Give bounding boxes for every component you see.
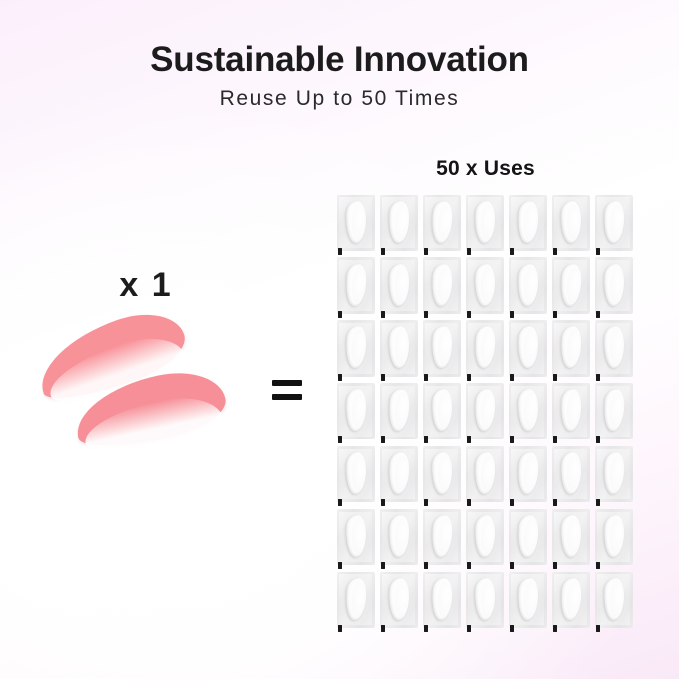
sachet-pouch: [552, 320, 590, 376]
sachet-pouch: [466, 320, 504, 376]
white-eye-patch: [515, 451, 539, 495]
sachet-cell: [507, 319, 550, 382]
tear-notch-icon: [467, 436, 471, 443]
white-eye-patch: [602, 451, 625, 494]
tear-notch-icon: [338, 436, 342, 443]
sachet-cell: [464, 319, 507, 382]
multiplier-label: x 1: [76, 266, 216, 305]
white-eye-patch: [430, 326, 453, 369]
white-eye-patch: [431, 452, 452, 494]
tear-notch-icon: [381, 311, 385, 318]
white-eye-patch: [559, 389, 582, 432]
tear-notch-icon: [596, 436, 600, 443]
sachet-pouch: [595, 446, 633, 502]
sachet-cell: [335, 319, 378, 382]
sachet-cell: [550, 382, 593, 445]
sachet-cell: [378, 319, 421, 382]
white-eye-patch: [472, 325, 496, 369]
sachet-pouch: [595, 195, 633, 251]
white-eye-patch: [387, 451, 410, 494]
sachet-cell: [378, 570, 421, 633]
tear-notch-icon: [338, 374, 342, 381]
tear-notch-icon: [424, 436, 428, 443]
sachet-cell: [593, 319, 636, 382]
sachet-pouch: [466, 446, 504, 502]
disposable-sachet-grid: [335, 193, 636, 633]
tear-notch-icon: [553, 374, 557, 381]
white-eye-patch: [345, 200, 366, 242]
tear-notch-icon: [467, 562, 471, 569]
sachet-cell: [421, 382, 464, 445]
tear-notch-icon: [424, 562, 428, 569]
white-eye-patch: [517, 326, 539, 369]
tear-notch-icon: [553, 499, 557, 506]
tear-notch-icon: [596, 311, 600, 318]
sachet-cell: [378, 256, 421, 319]
tear-notch-icon: [424, 311, 428, 318]
sachet-cell: [378, 193, 421, 256]
white-eye-patch: [516, 263, 539, 306]
sachet-pouch: [595, 383, 633, 439]
sachet-pouch: [466, 509, 504, 565]
sachet-pouch: [380, 257, 418, 313]
tear-notch-icon: [596, 562, 600, 569]
sachet-pouch: [509, 572, 547, 628]
sachet-cell: [550, 570, 593, 633]
sachet-cell: [550, 319, 593, 382]
sachet-pouch: [423, 320, 461, 376]
sachet-cell: [335, 570, 378, 633]
reusable-patch-pair: [30, 318, 245, 478]
sachet-pouch: [337, 257, 375, 313]
tear-notch-icon: [553, 625, 557, 632]
sachet-cell: [507, 570, 550, 633]
tear-notch-icon: [338, 499, 342, 506]
white-eye-patch: [558, 263, 582, 307]
equals-bar-lower: [272, 394, 302, 400]
white-eye-patch: [473, 388, 496, 431]
sachet-pouch: [337, 383, 375, 439]
white-eye-patch: [602, 200, 625, 243]
white-eye-patch: [602, 514, 625, 557]
tear-notch-icon: [510, 625, 514, 632]
sachet-cell: [464, 570, 507, 633]
white-eye-patch: [386, 388, 410, 432]
white-eye-patch: [344, 326, 367, 369]
sachet-pouch: [509, 257, 547, 313]
white-eye-patch: [343, 577, 367, 621]
tear-notch-icon: [381, 248, 385, 255]
tear-notch-icon: [381, 374, 385, 381]
sachet-cell: [421, 507, 464, 570]
tear-notch-icon: [424, 374, 428, 381]
sachet-pouch: [337, 320, 375, 376]
white-eye-patch: [388, 577, 410, 620]
tear-notch-icon: [467, 311, 471, 318]
sachet-pouch: [552, 195, 590, 251]
sachet-cell: [507, 444, 550, 507]
white-eye-patch: [516, 514, 539, 557]
sachet-cell: [593, 193, 636, 256]
white-eye-patch: [388, 326, 409, 368]
sachet-cell: [593, 382, 636, 445]
sachet-cell: [464, 193, 507, 256]
sachet-pouch: [423, 195, 461, 251]
white-eye-patch: [429, 514, 453, 558]
sachet-pouch: [337, 446, 375, 502]
page-subtitle: Reuse Up to 50 Times: [0, 87, 679, 111]
tear-notch-icon: [467, 499, 471, 506]
sachet-cell: [464, 507, 507, 570]
equals-sign: [272, 378, 306, 404]
sachet-pouch: [337, 195, 375, 251]
sachet-pouch: [423, 257, 461, 313]
white-eye-patch: [559, 326, 582, 369]
white-eye-patch: [345, 515, 366, 557]
tear-notch-icon: [553, 311, 557, 318]
grid-label-uses: 50 x Uses: [335, 157, 636, 181]
sachet-cell: [507, 193, 550, 256]
white-eye-patch: [474, 200, 496, 243]
sachet-cell: [378, 444, 421, 507]
sachet-cell: [550, 193, 593, 256]
tear-notch-icon: [381, 625, 385, 632]
tear-notch-icon: [596, 499, 600, 506]
sachet-pouch: [380, 509, 418, 565]
white-eye-patch: [431, 389, 453, 432]
tear-notch-icon: [467, 374, 471, 381]
sachet-cell: [335, 256, 378, 319]
sachet-cell: [421, 256, 464, 319]
sachet-pouch: [380, 383, 418, 439]
sachet-cell: [421, 444, 464, 507]
white-eye-patch: [560, 200, 581, 242]
sachet-pouch: [509, 446, 547, 502]
sachet-cell: [593, 570, 636, 633]
white-eye-patch: [474, 263, 495, 305]
white-eye-patch: [517, 389, 538, 431]
sachet-pouch: [466, 195, 504, 251]
sachet-cell: [593, 444, 636, 507]
sachet-pouch: [595, 509, 633, 565]
sachet-pouch: [423, 446, 461, 502]
sachet-cell: [550, 507, 593, 570]
white-eye-patch: [560, 515, 581, 557]
white-eye-patch: [473, 451, 496, 494]
sachet-pouch: [423, 509, 461, 565]
sachet-pouch: [466, 572, 504, 628]
sachet-pouch: [552, 572, 590, 628]
sachet-cell: [378, 507, 421, 570]
tear-notch-icon: [338, 248, 342, 255]
white-eye-patch: [343, 263, 367, 307]
white-eye-patch: [388, 263, 410, 306]
white-eye-patch: [430, 577, 453, 620]
product-infographic: Sustainable Innovation Reuse Up to 50 Ti…: [0, 0, 679, 679]
sachet-pouch: [509, 383, 547, 439]
tear-notch-icon: [338, 562, 342, 569]
sachet-pouch: [337, 572, 375, 628]
sachet-pouch: [552, 509, 590, 565]
tear-notch-icon: [510, 248, 514, 255]
sachet-pouch: [509, 509, 547, 565]
sachet-pouch: [423, 383, 461, 439]
white-eye-patch: [560, 452, 582, 495]
tear-notch-icon: [510, 311, 514, 318]
sachet-pouch: [595, 320, 633, 376]
tear-notch-icon: [424, 248, 428, 255]
tear-notch-icon: [553, 562, 557, 569]
white-eye-patch: [558, 577, 582, 621]
sachet-pouch: [509, 195, 547, 251]
white-eye-patch: [430, 263, 453, 306]
sachet-pouch: [509, 320, 547, 376]
sachet-cell: [507, 256, 550, 319]
sachet-cell: [335, 193, 378, 256]
tear-notch-icon: [424, 499, 428, 506]
sachet-cell: [421, 570, 464, 633]
sachet-cell: [421, 193, 464, 256]
white-eye-patch: [603, 326, 624, 368]
sachet-cell: [335, 507, 378, 570]
sachet-pouch: [466, 257, 504, 313]
tear-notch-icon: [510, 499, 514, 506]
tear-notch-icon: [381, 562, 385, 569]
sachet-pouch: [380, 446, 418, 502]
white-eye-patch: [601, 388, 625, 432]
sachet-cell: [550, 256, 593, 319]
tear-notch-icon: [510, 436, 514, 443]
white-eye-patch: [516, 200, 539, 243]
sachet-pouch: [423, 572, 461, 628]
tear-notch-icon: [553, 248, 557, 255]
tear-notch-icon: [510, 562, 514, 569]
sachet-pouch: [380, 195, 418, 251]
sachet-cell: [464, 382, 507, 445]
sachet-cell: [507, 507, 550, 570]
tear-notch-icon: [338, 311, 342, 318]
tear-notch-icon: [596, 625, 600, 632]
sachet-pouch: [595, 257, 633, 313]
page-title: Sustainable Innovation: [0, 40, 679, 80]
white-eye-patch: [603, 263, 625, 306]
sachet-pouch: [380, 572, 418, 628]
white-eye-patch: [345, 452, 367, 495]
tear-notch-icon: [553, 436, 557, 443]
tear-notch-icon: [596, 374, 600, 381]
sachet-pouch: [552, 446, 590, 502]
white-eye-patch: [387, 200, 410, 243]
sachet-cell: [378, 382, 421, 445]
sachet-cell: [335, 382, 378, 445]
tear-notch-icon: [338, 625, 342, 632]
white-eye-patch: [516, 577, 539, 620]
sachet-cell: [593, 256, 636, 319]
tear-notch-icon: [596, 248, 600, 255]
sachet-pouch: [595, 572, 633, 628]
tear-notch-icon: [381, 436, 385, 443]
tear-notch-icon: [467, 625, 471, 632]
white-eye-patch: [387, 514, 410, 557]
sachet-cell: [593, 507, 636, 570]
sachet-cell: [335, 444, 378, 507]
sachet-pouch: [552, 383, 590, 439]
sachet-pouch: [380, 320, 418, 376]
tear-notch-icon: [381, 499, 385, 506]
white-eye-patch: [603, 577, 625, 620]
tear-notch-icon: [424, 625, 428, 632]
white-eye-patch: [474, 577, 495, 619]
tear-notch-icon: [467, 248, 471, 255]
sachet-pouch: [552, 257, 590, 313]
white-eye-patch: [344, 389, 367, 432]
white-eye-patch: [429, 200, 453, 244]
equals-bar-upper: [272, 380, 302, 386]
sachet-cell: [550, 444, 593, 507]
sachet-cell: [507, 382, 550, 445]
white-eye-patch: [474, 514, 496, 557]
tear-notch-icon: [510, 374, 514, 381]
sachet-cell: [464, 256, 507, 319]
sachet-cell: [464, 444, 507, 507]
sachet-pouch: [466, 383, 504, 439]
sachet-cell: [421, 319, 464, 382]
sachet-pouch: [337, 509, 375, 565]
